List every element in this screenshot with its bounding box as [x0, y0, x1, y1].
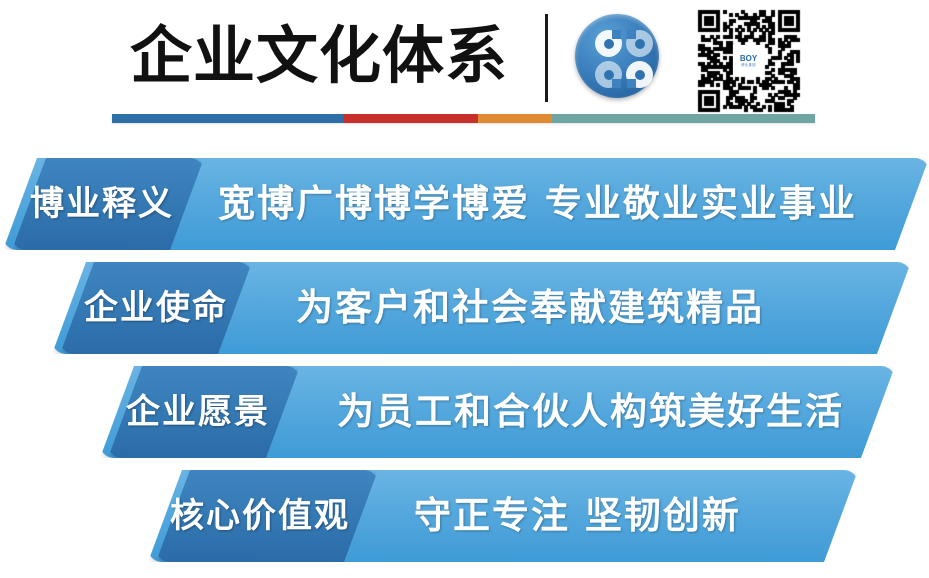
- culture-row-text: 守正专注 坚韧创新: [414, 470, 741, 562]
- culture-row-text: 为员工和合伙人构筑美好生活: [337, 366, 844, 458]
- rule-segment-teal: [552, 114, 815, 123]
- culture-row[interactable]: 核心价值观守正专注 坚韧创新: [148, 470, 858, 562]
- culture-row[interactable]: 企业使命为客户和社会奉献建筑精品: [52, 262, 911, 354]
- logo-dot-bottom-right: [626, 61, 653, 88]
- culture-row-label: 博业释义: [30, 158, 174, 250]
- header: 企业文化体系 BOY 博业集团: [0, 0, 929, 132]
- culture-row-text: 为客户和社会奉献建筑精品: [296, 262, 764, 354]
- culture-row-text: 宽博广博博学博爱 专业敬业实业事业: [218, 158, 857, 250]
- page-title: 企业文化体系: [130, 12, 508, 100]
- logo-dot-top-right: [626, 30, 653, 57]
- logo-dot-top-left: [595, 30, 622, 57]
- qr-sub-text: 博业集团: [741, 63, 756, 68]
- qr-center-logo: BOY 博业集团: [733, 45, 764, 76]
- culture-row[interactable]: 企业愿景为员工和合伙人构筑美好生活: [100, 366, 895, 458]
- culture-row-label: 企业愿景: [126, 366, 270, 458]
- culture-row-label: 企业使命: [84, 262, 228, 354]
- culture-row[interactable]: 博业释义宽博广博博学博爱 专业敬业实业事业: [3, 158, 929, 250]
- qr-code-icon[interactable]: BOY 博业集团: [692, 4, 805, 117]
- culture-row-label: 核心价值观: [170, 470, 350, 562]
- qr-brand-text: BOY: [740, 54, 757, 63]
- logo-inner-dots: [593, 28, 657, 92]
- logo-dot-bottom-left: [595, 61, 622, 88]
- color-rule-divider: [112, 114, 815, 123]
- logo-circle: [575, 14, 659, 98]
- rule-segment-orange: [478, 114, 552, 123]
- rule-segment-blue: [112, 114, 343, 123]
- title-divider: [545, 14, 548, 102]
- rule-segment-red: [343, 114, 478, 123]
- company-logo-icon: [567, 10, 665, 108]
